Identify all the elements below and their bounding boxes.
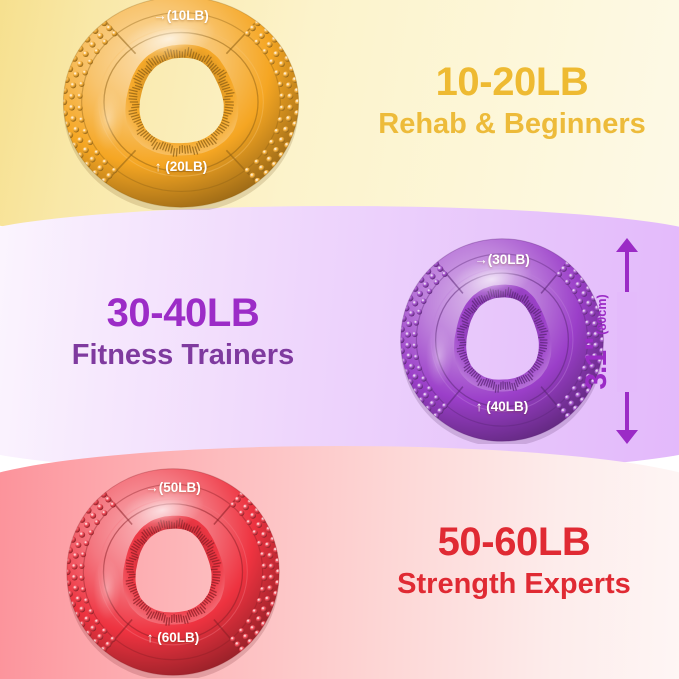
grip-ring-red: →(50LB) ↑ (60LB)	[62, 466, 284, 678]
ring-illustration-red	[62, 466, 284, 678]
title-purple: 30-40LB	[28, 293, 338, 334]
subtitle-purple: Fitness Trainers	[28, 341, 338, 371]
subtitle-red: Strength Experts	[360, 570, 668, 600]
dimension-annotation: 3.1" (80cm)	[604, 238, 648, 444]
subtitle-yellow: Rehab & Beginners	[352, 110, 672, 140]
arrow-head-down-icon	[616, 430, 638, 444]
text-block-yellow: 10-20LB Rehab & Beginners	[352, 62, 672, 139]
grip-ring-purple: →(30LB) ↑ (40LB)	[396, 236, 608, 444]
dimension-label: 3.1" (80cm)	[580, 294, 672, 390]
grip-ring-yellow: →(10LB) ↑ (20LB)	[58, 0, 304, 210]
text-block-purple: 30-40LB Fitness Trainers	[28, 293, 338, 370]
dimension-value: 3.1"	[580, 338, 614, 390]
product-infographic: →(10LB) ↑ (20LB) →(30LB) ↑ (40LB) →(50LB…	[0, 0, 679, 679]
ring-illustration-yellow	[58, 0, 304, 210]
dimension-metric: (80cm)	[595, 294, 609, 334]
ring-illustration-purple	[396, 236, 608, 444]
title-red: 50-60LB	[360, 522, 668, 563]
arrow-head-up-icon	[616, 238, 638, 252]
text-block-red: 50-60LB Strength Experts	[360, 522, 668, 599]
title-yellow: 10-20LB	[352, 62, 672, 103]
